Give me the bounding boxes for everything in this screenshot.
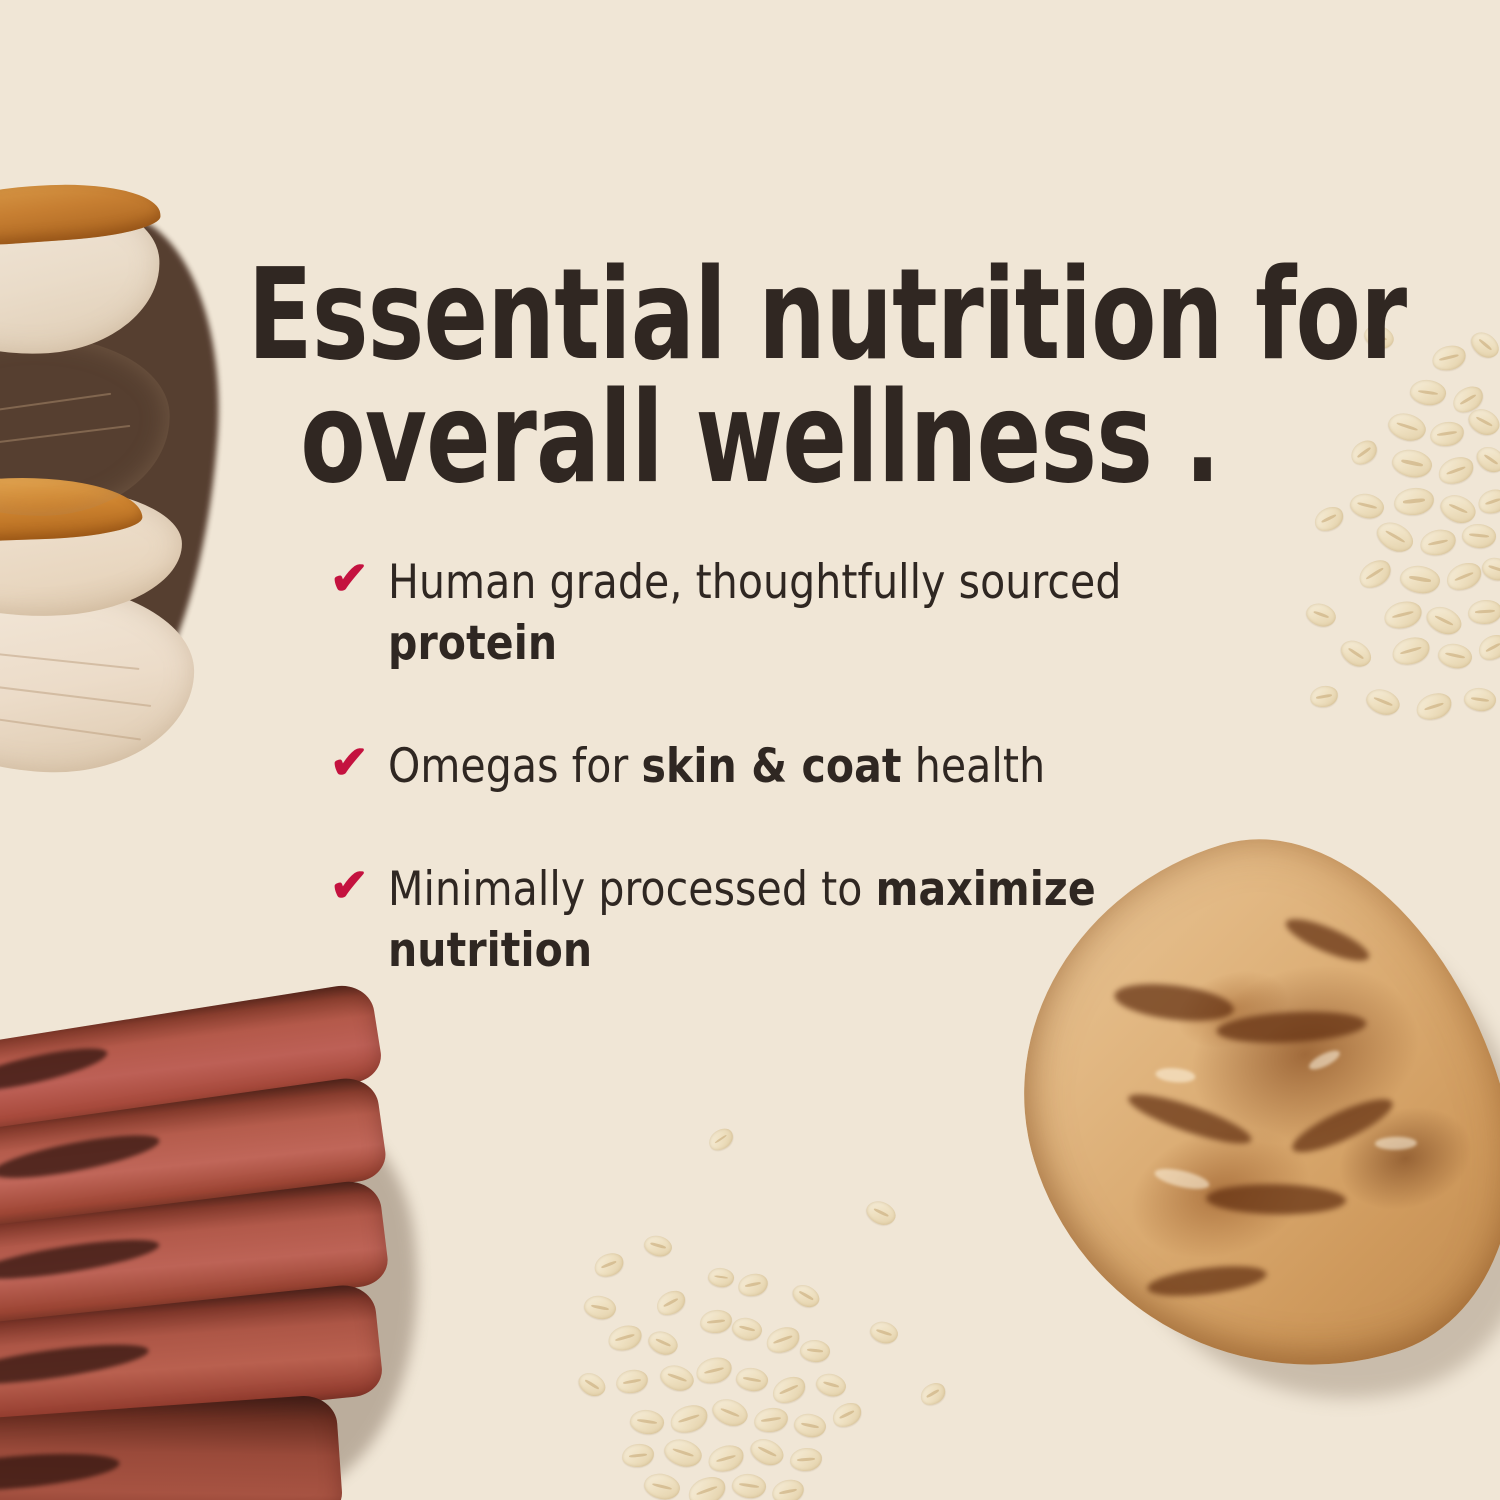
oat-flake [1443,558,1486,595]
oat-flake [642,1233,674,1260]
check-icon: ✔ [330,554,388,602]
chicken-gloss [1375,1136,1417,1150]
oat-flake [746,1434,787,1470]
oat-flake [1422,601,1465,639]
oat-flake [694,1354,735,1387]
pork-grain [0,644,139,670]
oat-flake [792,1411,828,1440]
headline-line-2: overall wellness . [248,377,1273,499]
oat-flake [707,1266,735,1288]
benefit-text: Omegas for skin & coat health [388,736,1045,797]
seared-steak-image [0,1012,460,1500]
oat-flake [867,1318,900,1347]
oat-flake [1479,554,1500,584]
chicken-gloss [1307,1047,1343,1073]
oat-flake [575,1368,610,1401]
steak-sear-mark [0,1337,151,1393]
oat-flake [770,1477,806,1500]
benefit-text: Human grade, thoughtfully sourced protei… [388,552,1185,674]
oat-flake [1385,409,1429,445]
oat-flake [1390,446,1435,481]
oat-flake [1474,630,1500,664]
oat-flake [1464,404,1500,440]
steak-slice [0,1394,344,1500]
oat-flake [1435,453,1477,489]
oat-flake [799,1338,831,1363]
pork-crackling [0,177,162,250]
chicken-char-mark [1112,978,1235,1026]
oat-flake [752,1406,789,1434]
oat-flake [1363,685,1404,720]
oat-flake [1389,633,1433,668]
headline-line-1: Essential nutrition for [248,254,1273,376]
oat-flake [1448,382,1487,418]
oat-flake [1348,490,1387,522]
roast-pork-shadow [0,204,233,760]
pork-slice [0,331,173,520]
oat-flake [730,1472,767,1500]
oat-flake [1430,342,1469,374]
oat-flake [628,1408,665,1436]
oat-flake [1472,442,1500,478]
oat-flake [1413,689,1455,724]
chicken-char-mark [1216,1008,1367,1046]
oat-flake [1354,555,1396,593]
oat-flake [709,1394,752,1431]
benefits-list: ✔ Human grade, thoughtfully sourced prot… [330,552,1210,981]
oat-flake [642,1470,683,1500]
oat-flake [734,1365,770,1393]
oat-flake [789,1447,823,1472]
chicken-char-mark [1124,1086,1255,1153]
pork-slice [0,579,196,774]
oat-flake [582,1293,618,1322]
oat-flake [1475,486,1500,517]
chicken-char-mark [1206,1183,1347,1215]
rolled-oats-bottom-center [560,1128,960,1500]
oat-flake [1347,436,1382,469]
oat-flake [789,1280,823,1311]
oat-flake [614,1367,650,1395]
pork-grain [0,425,130,453]
oat-flake [863,1197,900,1230]
oat-flake [1436,641,1474,672]
oat-flake [829,1399,866,1432]
steak-slice [0,1074,389,1245]
oat-flake [1398,563,1442,597]
oat-flake [605,1322,644,1354]
pork-grain [0,705,141,740]
oat-flake [661,1435,705,1471]
oat-flake [705,1124,737,1154]
oat-flake [667,1401,711,1437]
chicken-gloss [1153,1165,1211,1193]
page-title: Essential nutrition for overall wellness… [248,254,1273,498]
steak-sear-mark [0,1447,121,1497]
steak-sear-mark [0,1040,110,1099]
steak-shadow [62,1051,449,1500]
steak-sear-mark [0,1127,162,1187]
oat-flake [1381,598,1424,632]
oat-flake [1311,503,1348,536]
oat-flake [685,1472,730,1500]
oat-flake [1408,378,1447,408]
steak-sear-mark [0,1232,161,1287]
oat-flake [621,1442,655,1468]
chicken-char-mark [1146,1261,1268,1301]
oat-flake [814,1370,849,1399]
oat-flake [763,1323,803,1357]
oat-flake [699,1308,733,1334]
pork-grain [0,675,151,707]
oat-flake [1336,635,1375,672]
chicken-char-mark [1287,1090,1399,1162]
oat-flake [657,1361,697,1395]
oat-flake [1466,327,1500,363]
roast-pork-image [0,186,244,766]
marketing-banner: Essential nutrition for overall wellness… [0,0,1500,1500]
oat-flake [1428,420,1465,448]
check-icon: ✔ [330,861,388,909]
oat-flake [591,1249,627,1281]
steak-slice [0,1178,391,1344]
oat-flake [917,1379,950,1409]
oat-flake [736,1271,770,1299]
pork-grain [0,393,111,421]
benefit-item-minimally-processed: ✔ Minimally processed to maximize nutrit… [330,859,1210,981]
pork-slice [0,185,165,362]
steak-slice [0,981,385,1153]
oat-flake [1418,527,1458,559]
oat-flake [769,1372,810,1408]
oat-flake [1467,599,1500,625]
steak-slice [0,1282,384,1446]
benefit-item-protein: ✔ Human grade, thoughtfully sourced prot… [330,552,1210,674]
chicken-gloss [1155,1067,1196,1084]
chicken-char-mark [1281,911,1373,968]
benefit-text: Minimally processed to maximize nutritio… [388,859,1185,981]
oat-flake [1461,522,1497,549]
oat-flake [705,1442,746,1476]
oat-flake [1372,516,1418,558]
check-icon: ✔ [330,738,388,786]
pork-crackling [0,474,143,545]
pork-slice [0,483,183,618]
oat-flake [1308,684,1339,710]
oat-flake [645,1327,681,1359]
oat-flake [1436,490,1479,528]
oat-flake [1463,686,1498,713]
oat-flake [1393,486,1436,517]
oat-flake [653,1286,690,1320]
oat-flake [730,1315,764,1344]
benefit-item-skin-coat: ✔ Omegas for skin & coat health [330,736,1210,797]
oat-flake [1303,600,1339,631]
